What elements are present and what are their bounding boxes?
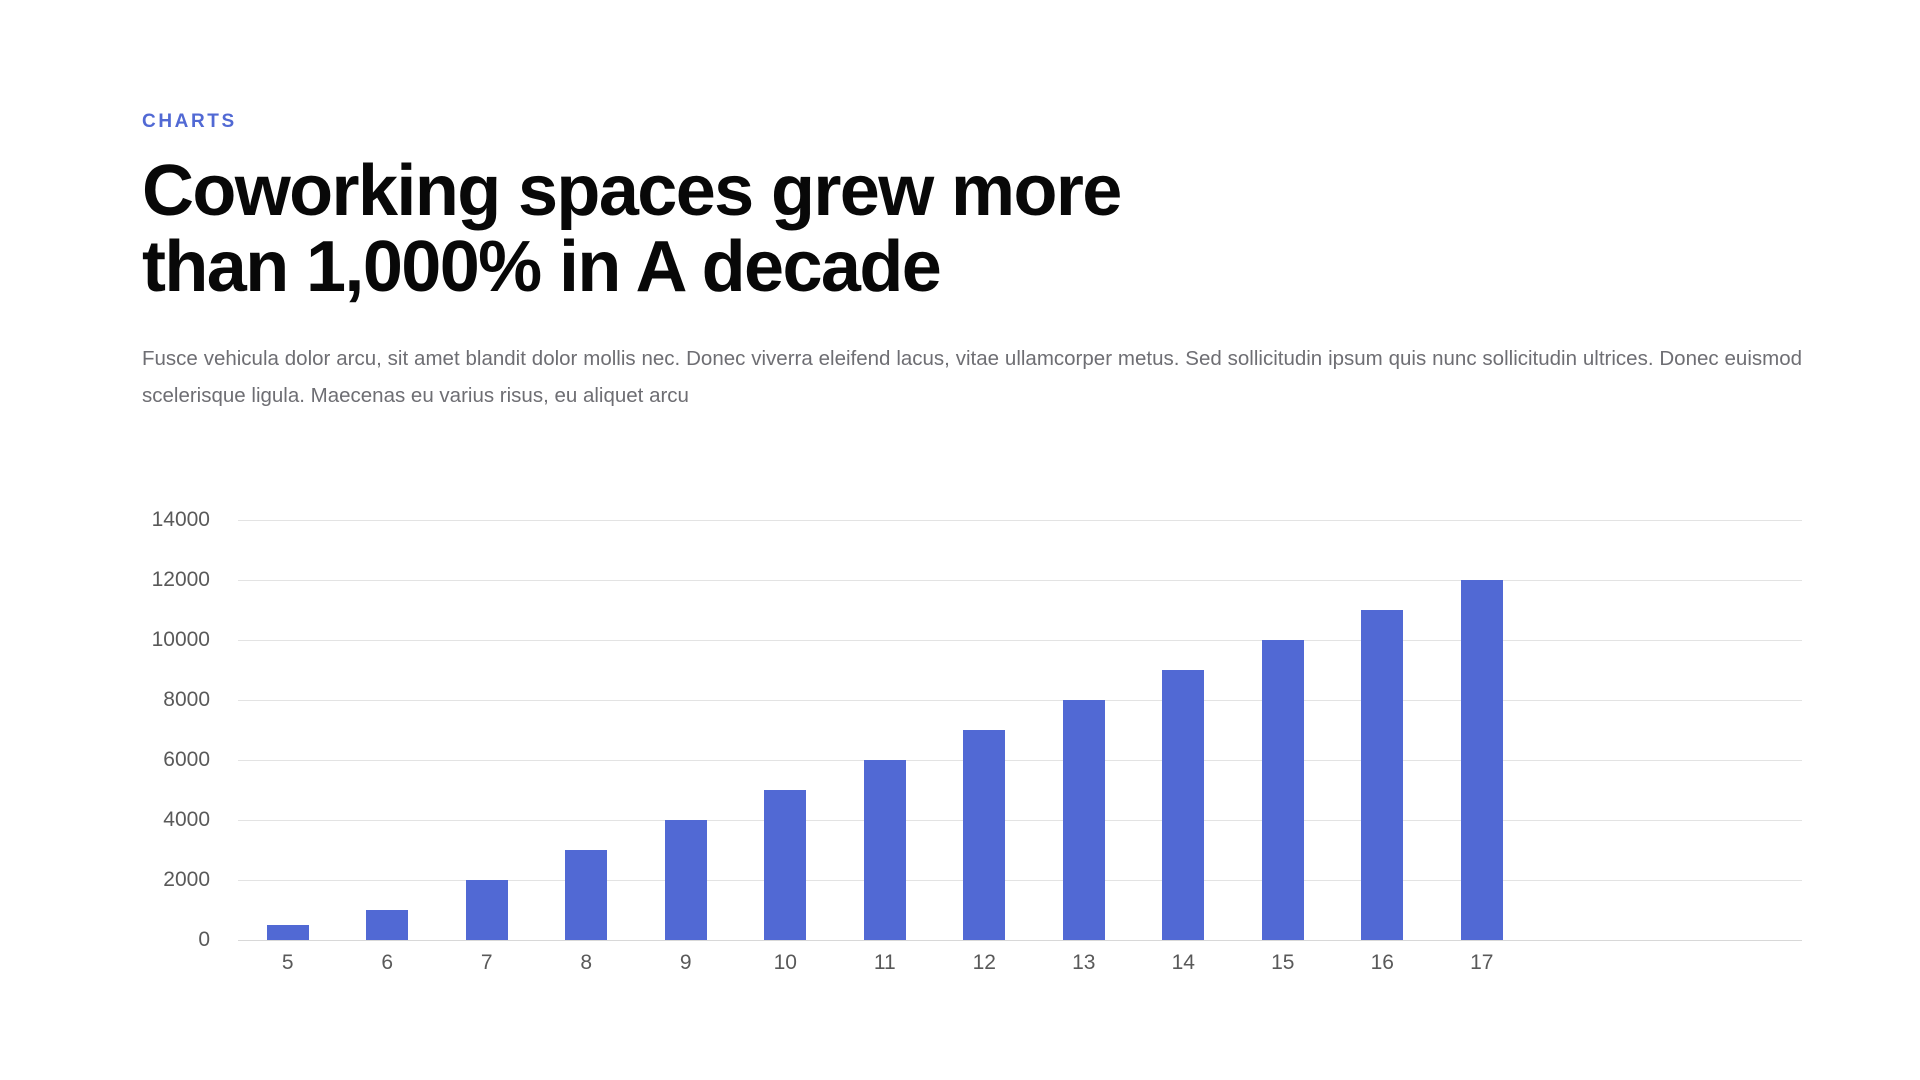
bar-slot[interactable] xyxy=(1233,520,1333,940)
body-paragraph: Fusce vehicula dolor arcu, sit amet blan… xyxy=(142,340,1802,415)
chart-plot-wrapper: 02000400060008000100001200014000 5678910… xyxy=(142,520,1802,940)
bar-slot[interactable] xyxy=(935,520,1035,940)
page-title-line-2: than 1,000% in A decade xyxy=(142,229,1292,305)
bar-slot[interactable] xyxy=(338,520,438,940)
bar-chart: 02000400060008000100001200014000 5678910… xyxy=(142,520,1802,940)
bar[interactable] xyxy=(466,880,508,940)
x-axis-tick-label: 17 xyxy=(1432,951,1532,975)
x-axis-tick-label: 9 xyxy=(636,951,736,975)
bar[interactable] xyxy=(963,730,1005,940)
bar-slot[interactable] xyxy=(437,520,537,940)
y-axis-tick-label: 4000 xyxy=(163,808,210,832)
bar-slot[interactable] xyxy=(1333,520,1433,940)
x-axis: 567891011121314151617 xyxy=(238,940,1802,986)
header-block: CHARTS Coworking spaces grew more than 1… xyxy=(142,112,1802,414)
x-axis-tick-label: 16 xyxy=(1333,951,1433,975)
page-title-line-1: Coworking spaces grew more xyxy=(142,153,1292,229)
y-axis-tick-label: 0 xyxy=(198,928,210,952)
chart-plot-area xyxy=(238,520,1802,940)
bar-slot[interactable] xyxy=(835,520,935,940)
bar[interactable] xyxy=(1461,580,1503,940)
bar-series xyxy=(238,520,1802,940)
bar-slot[interactable] xyxy=(537,520,637,940)
y-axis-tick-label: 2000 xyxy=(163,868,210,892)
bar[interactable] xyxy=(665,820,707,940)
bar-slot[interactable] xyxy=(1134,520,1234,940)
x-axis-tick-label: 10 xyxy=(736,951,836,975)
x-axis-tick-label: 15 xyxy=(1233,951,1333,975)
y-axis: 02000400060008000100001200014000 xyxy=(142,520,224,940)
bar[interactable] xyxy=(1262,640,1304,940)
slide-root: CHARTS Coworking spaces grew more than 1… xyxy=(0,0,1920,1080)
x-axis-tick-label: 14 xyxy=(1134,951,1234,975)
x-axis-tick-label: 11 xyxy=(835,951,935,975)
eyebrow-label: CHARTS xyxy=(142,112,1802,131)
y-axis-tick-label: 10000 xyxy=(152,628,210,652)
bar[interactable] xyxy=(1063,700,1105,940)
y-axis-tick-label: 14000 xyxy=(152,508,210,532)
bar[interactable] xyxy=(1361,610,1403,940)
bar-slot[interactable] xyxy=(1432,520,1532,940)
bar[interactable] xyxy=(366,910,408,940)
bar[interactable] xyxy=(864,760,906,940)
bar-slot[interactable] xyxy=(636,520,736,940)
y-axis-tick-label: 6000 xyxy=(163,748,210,772)
bar[interactable] xyxy=(267,925,309,940)
x-axis-tick-label: 7 xyxy=(437,951,537,975)
bar[interactable] xyxy=(764,790,806,940)
x-axis-tick-label: 12 xyxy=(935,951,1035,975)
page-title: Coworking spaces grew more than 1,000% i… xyxy=(142,153,1292,306)
x-axis-tick-label: 13 xyxy=(1034,951,1134,975)
y-axis-tick-label: 12000 xyxy=(152,568,210,592)
x-axis-tick-label: 5 xyxy=(238,951,338,975)
bar[interactable] xyxy=(1162,670,1204,940)
bar-slot[interactable] xyxy=(238,520,338,940)
bar-slot[interactable] xyxy=(736,520,836,940)
y-axis-tick-label: 8000 xyxy=(163,688,210,712)
x-axis-tick-label: 8 xyxy=(537,951,637,975)
x-axis-tick-label: 6 xyxy=(338,951,438,975)
bar[interactable] xyxy=(565,850,607,940)
bar-slot[interactable] xyxy=(1034,520,1134,940)
